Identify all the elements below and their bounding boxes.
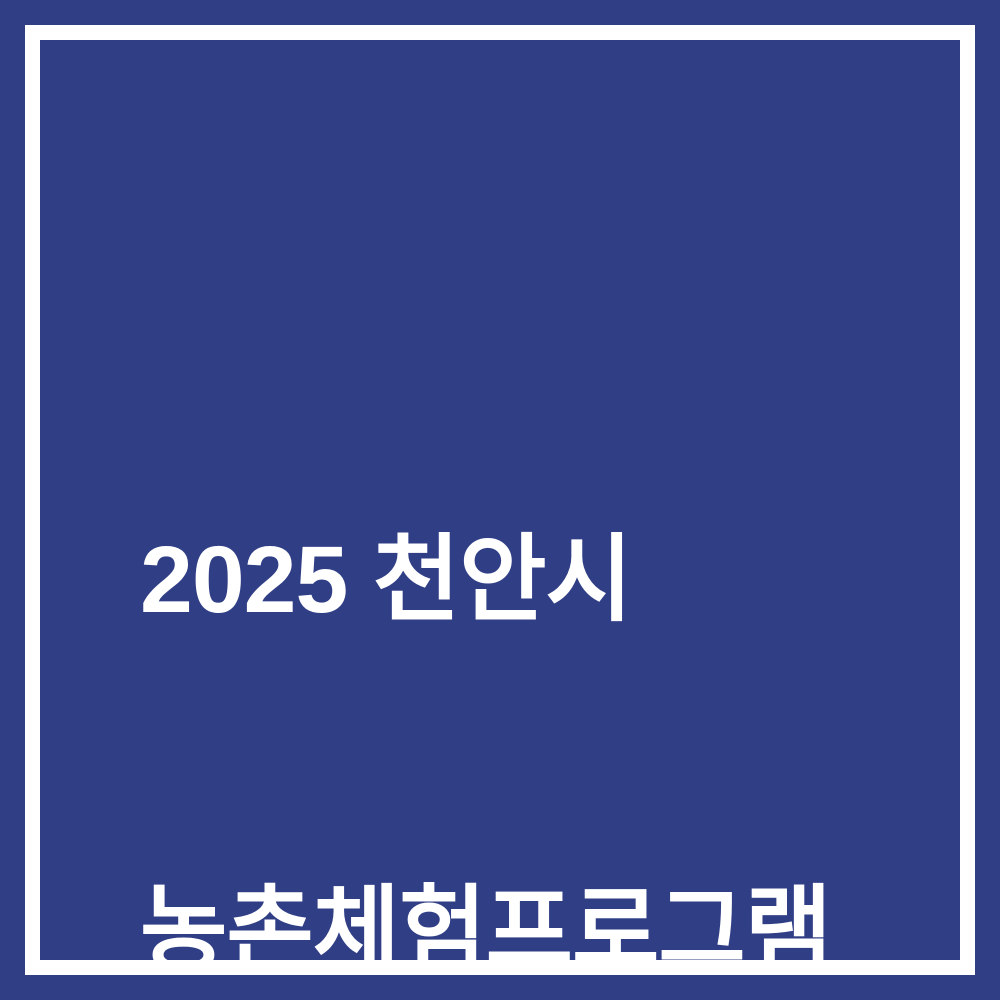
thumbnail-card: 2025 천안시 농촌체험프로그램 신청방법 자격조건 및	[0, 0, 1000, 1000]
page-title: 2025 천안시 농촌체험프로그램 신청방법 자격조건 및	[140, 288, 1000, 1000]
title-line-1: 2025 천안시	[140, 522, 1000, 639]
decorative-white-frame: 2025 천안시 농촌체험프로그램 신청방법 자격조건 및	[25, 25, 975, 975]
title-line-2: 농촌체험프로그램	[140, 873, 1000, 990]
